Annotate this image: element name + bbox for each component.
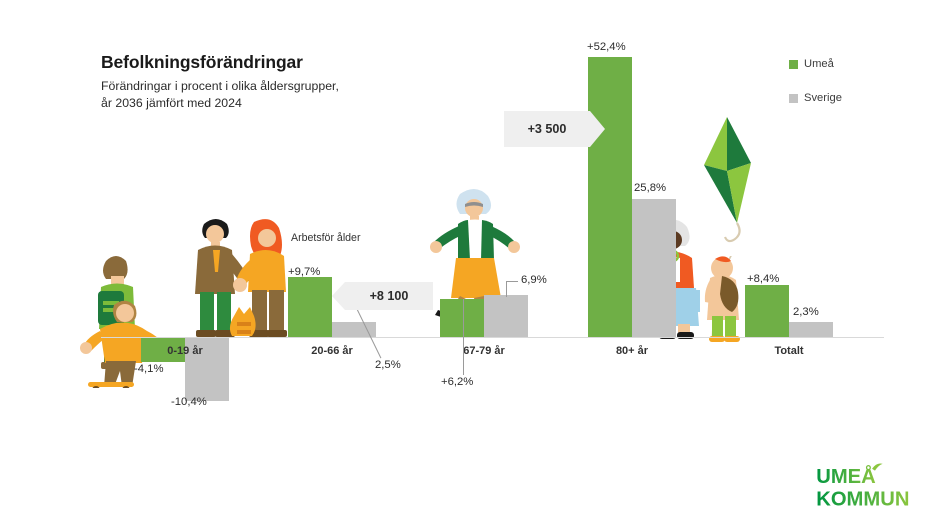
page-title: Befolkningsförändringar bbox=[101, 52, 303, 73]
illustration-kite bbox=[693, 113, 777, 243]
infographic-canvas: Befolkningsförändringar Förändringar i p… bbox=[0, 0, 945, 532]
chart-baseline bbox=[101, 337, 884, 338]
leader-line-sverige-67-79 bbox=[506, 281, 507, 297]
category-text-80plus: 80+ år bbox=[616, 345, 648, 357]
category-label-67-79: 67-79 år bbox=[440, 345, 528, 357]
category-label-0-19: 0-19 år bbox=[141, 345, 229, 357]
category-text-0-19: 0-19 år bbox=[167, 345, 202, 357]
leader-line-umea-67-79 bbox=[463, 299, 464, 375]
value-label-umea-totalt: +8,4% bbox=[747, 273, 779, 285]
logo-line-1: UMEÅ bbox=[816, 464, 876, 488]
logo-leaf-icon bbox=[872, 463, 883, 470]
callout-elderly-absolute: +3 500 bbox=[504, 111, 590, 147]
category-text-67-79: 67-79 år bbox=[463, 345, 505, 357]
value-label-umea-67-79: +6,2% bbox=[441, 376, 473, 388]
bar-umea-80plus bbox=[588, 57, 632, 337]
callout-working-arrow bbox=[332, 282, 345, 310]
illustration-handshake bbox=[182, 212, 300, 340]
category-text-20-66: 20-66 år bbox=[311, 345, 353, 357]
chart-legend: Umeå Sverige bbox=[789, 58, 842, 126]
value-label-sverige-totalt: 2,3% bbox=[793, 306, 819, 318]
legend-label-umea: Umeå bbox=[804, 58, 834, 70]
bar-sverige-80plus bbox=[632, 199, 676, 337]
callout-working-text: +8 100 bbox=[370, 289, 409, 303]
category-label-80plus: 80+ år bbox=[588, 345, 676, 357]
bar-umea-totalt bbox=[745, 285, 789, 337]
category-text-totalt: Totalt bbox=[774, 345, 803, 357]
bar-umea-67-79 bbox=[440, 299, 484, 337]
value-label-umea-80plus: +52,4% bbox=[587, 41, 626, 53]
leader-line-sverige-67-79-horizontal bbox=[506, 281, 518, 282]
annotation-working-age: Arbetsför ålder bbox=[291, 232, 360, 244]
value-label-umea-0-19: -4,1% bbox=[134, 363, 164, 375]
legend-item-umea: Umeå bbox=[789, 58, 842, 70]
legend-label-sverige: Sverige bbox=[804, 92, 842, 104]
bar-sverige-67-79 bbox=[484, 295, 528, 337]
value-label-sverige-67-79: 6,9% bbox=[521, 274, 547, 286]
category-label-totalt: Totalt bbox=[745, 345, 833, 357]
callout-elderly-text: +3 500 bbox=[528, 122, 567, 136]
logo-line-2: KOMMUN bbox=[816, 488, 909, 510]
bar-umea-20-66 bbox=[288, 277, 332, 337]
bar-sverige-totalt bbox=[789, 322, 833, 337]
page-subtitle: Förändringar i procent i olika åldersgru… bbox=[101, 78, 339, 111]
umea-kommun-logo: UMEÅ KOMMUN bbox=[815, 462, 933, 514]
illustration-children bbox=[70, 243, 190, 388]
legend-swatch-sverige bbox=[789, 94, 798, 103]
value-label-umea-20-66: +9,7% bbox=[288, 266, 320, 278]
value-label-sverige-0-19: -10,4% bbox=[171, 396, 207, 408]
category-label-20-66: 20-66 år bbox=[288, 345, 376, 357]
value-label-sverige-20-66: 2,5% bbox=[375, 359, 401, 371]
legend-swatch-umea bbox=[789, 60, 798, 69]
value-label-sverige-80plus: 25,8% bbox=[634, 182, 666, 194]
callout-elderly-arrow bbox=[590, 111, 605, 147]
callout-working-age-absolute: +8 100 bbox=[345, 282, 433, 310]
legend-item-sverige: Sverige bbox=[789, 92, 842, 104]
